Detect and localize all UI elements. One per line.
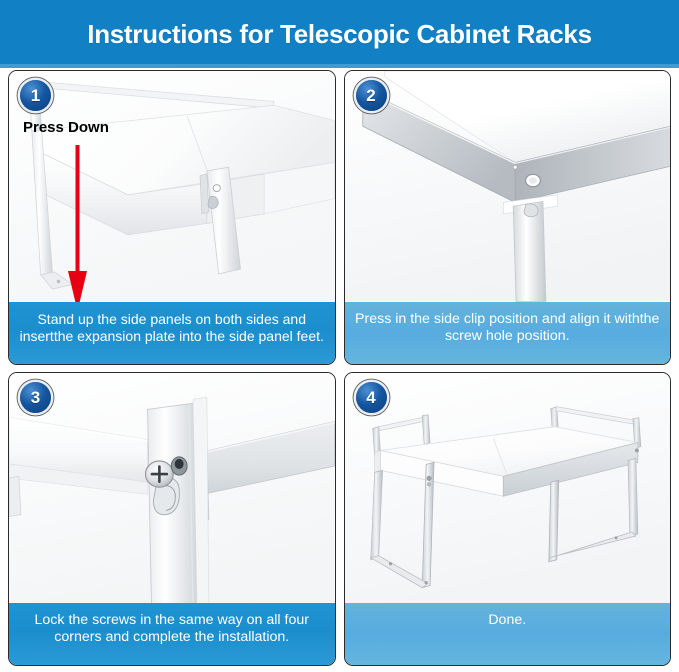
down-arrow-icon — [65, 145, 91, 302]
step-panel-4: 4 — [344, 372, 672, 667]
step-3-illustration: 3 — [9, 373, 335, 604]
steps-grid: 1 Press Down — [8, 70, 671, 666]
step-1-artwork — [9, 71, 335, 302]
step-badge-4-number: 4 — [366, 389, 375, 406]
instruction-sheet: Instructions for Telescopic Cabinet Rack… — [0, 0, 679, 672]
step-panel-2: 2 — [344, 70, 672, 365]
step-1-caption: Stand up the side panels on both sides a… — [9, 302, 335, 364]
step-badge-2-number: 2 — [366, 87, 375, 104]
step-panel-3: 3 — [8, 372, 336, 667]
step-2-artwork — [345, 71, 671, 302]
step-3-artwork — [9, 373, 335, 604]
header-banner: Instructions for Telescopic Cabinet Rack… — [0, 0, 679, 68]
step-2-illustration: 2 — [345, 71, 671, 302]
step-4-artwork — [345, 373, 671, 604]
step-badge-2: 2 — [356, 80, 387, 111]
step-badge-1-number: 1 — [31, 87, 40, 104]
step-4-illustration: 4 — [345, 373, 671, 604]
step-badge-3: 3 — [20, 382, 51, 413]
page-title: Instructions for Telescopic Cabinet Rack… — [87, 19, 591, 50]
step-3-caption: Lock the screws in the same way on all f… — [9, 603, 335, 665]
step-1-illustration: 1 Press Down — [9, 71, 335, 302]
step-badge-3-number: 3 — [31, 389, 40, 406]
step-panel-1: 1 Press Down — [8, 70, 336, 365]
step-4-caption: Done. — [345, 603, 671, 665]
step-badge-1: 1 — [20, 80, 51, 111]
step-2-caption: Press in the side clip position and alig… — [345, 302, 671, 364]
step-badge-4: 4 — [356, 382, 387, 413]
press-down-label: Press Down — [23, 119, 109, 136]
